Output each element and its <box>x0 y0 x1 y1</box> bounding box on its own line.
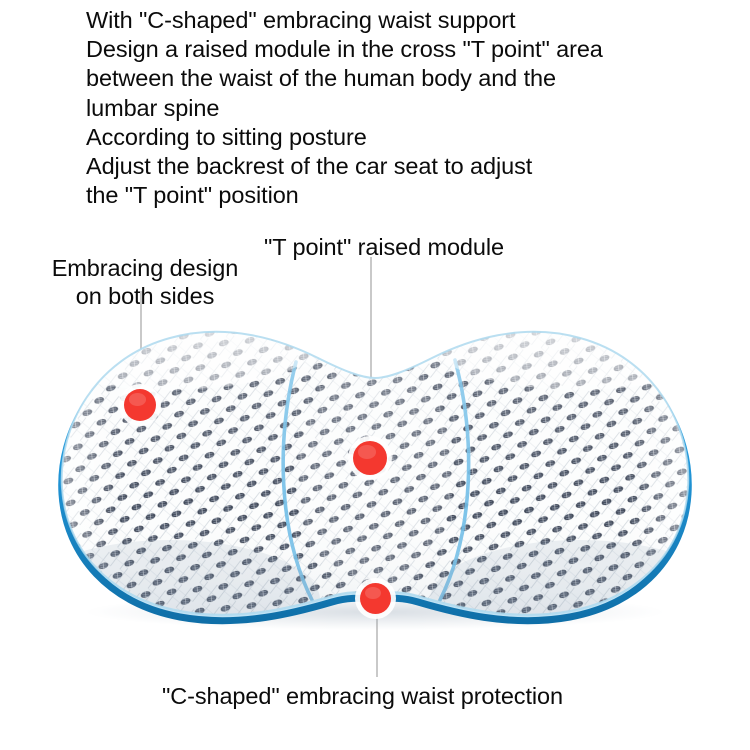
description-line-1: With "C-shaped" embracing waist support <box>86 6 726 35</box>
description-line-2: Design a raised module in the cross "T p… <box>86 35 726 64</box>
callout-c-shaped-waist-protection: "C-shaped" embracing waist protection <box>162 682 563 710</box>
infographic-page: With "C-shaped" embracing waist support … <box>0 0 750 750</box>
marker-t-point <box>353 441 387 475</box>
description-line-4: lumbar spine <box>86 94 726 123</box>
callout-embracing-line-1: Embracing design <box>41 254 249 282</box>
description-line-6: Adjust the backrest of the car seat to a… <box>86 152 726 181</box>
description-line-7: the "T point" position <box>86 181 726 210</box>
marker-embracing-side <box>124 389 156 421</box>
description-line-5: According to sitting posture <box>86 123 726 152</box>
callout-t-point-raised-module: "T point" raised module <box>264 233 504 261</box>
marker-c-shape <box>360 583 391 614</box>
description-line-3: between the waist of the human body and … <box>86 64 726 93</box>
description-block: With "C-shaped" embracing waist support … <box>86 6 726 210</box>
